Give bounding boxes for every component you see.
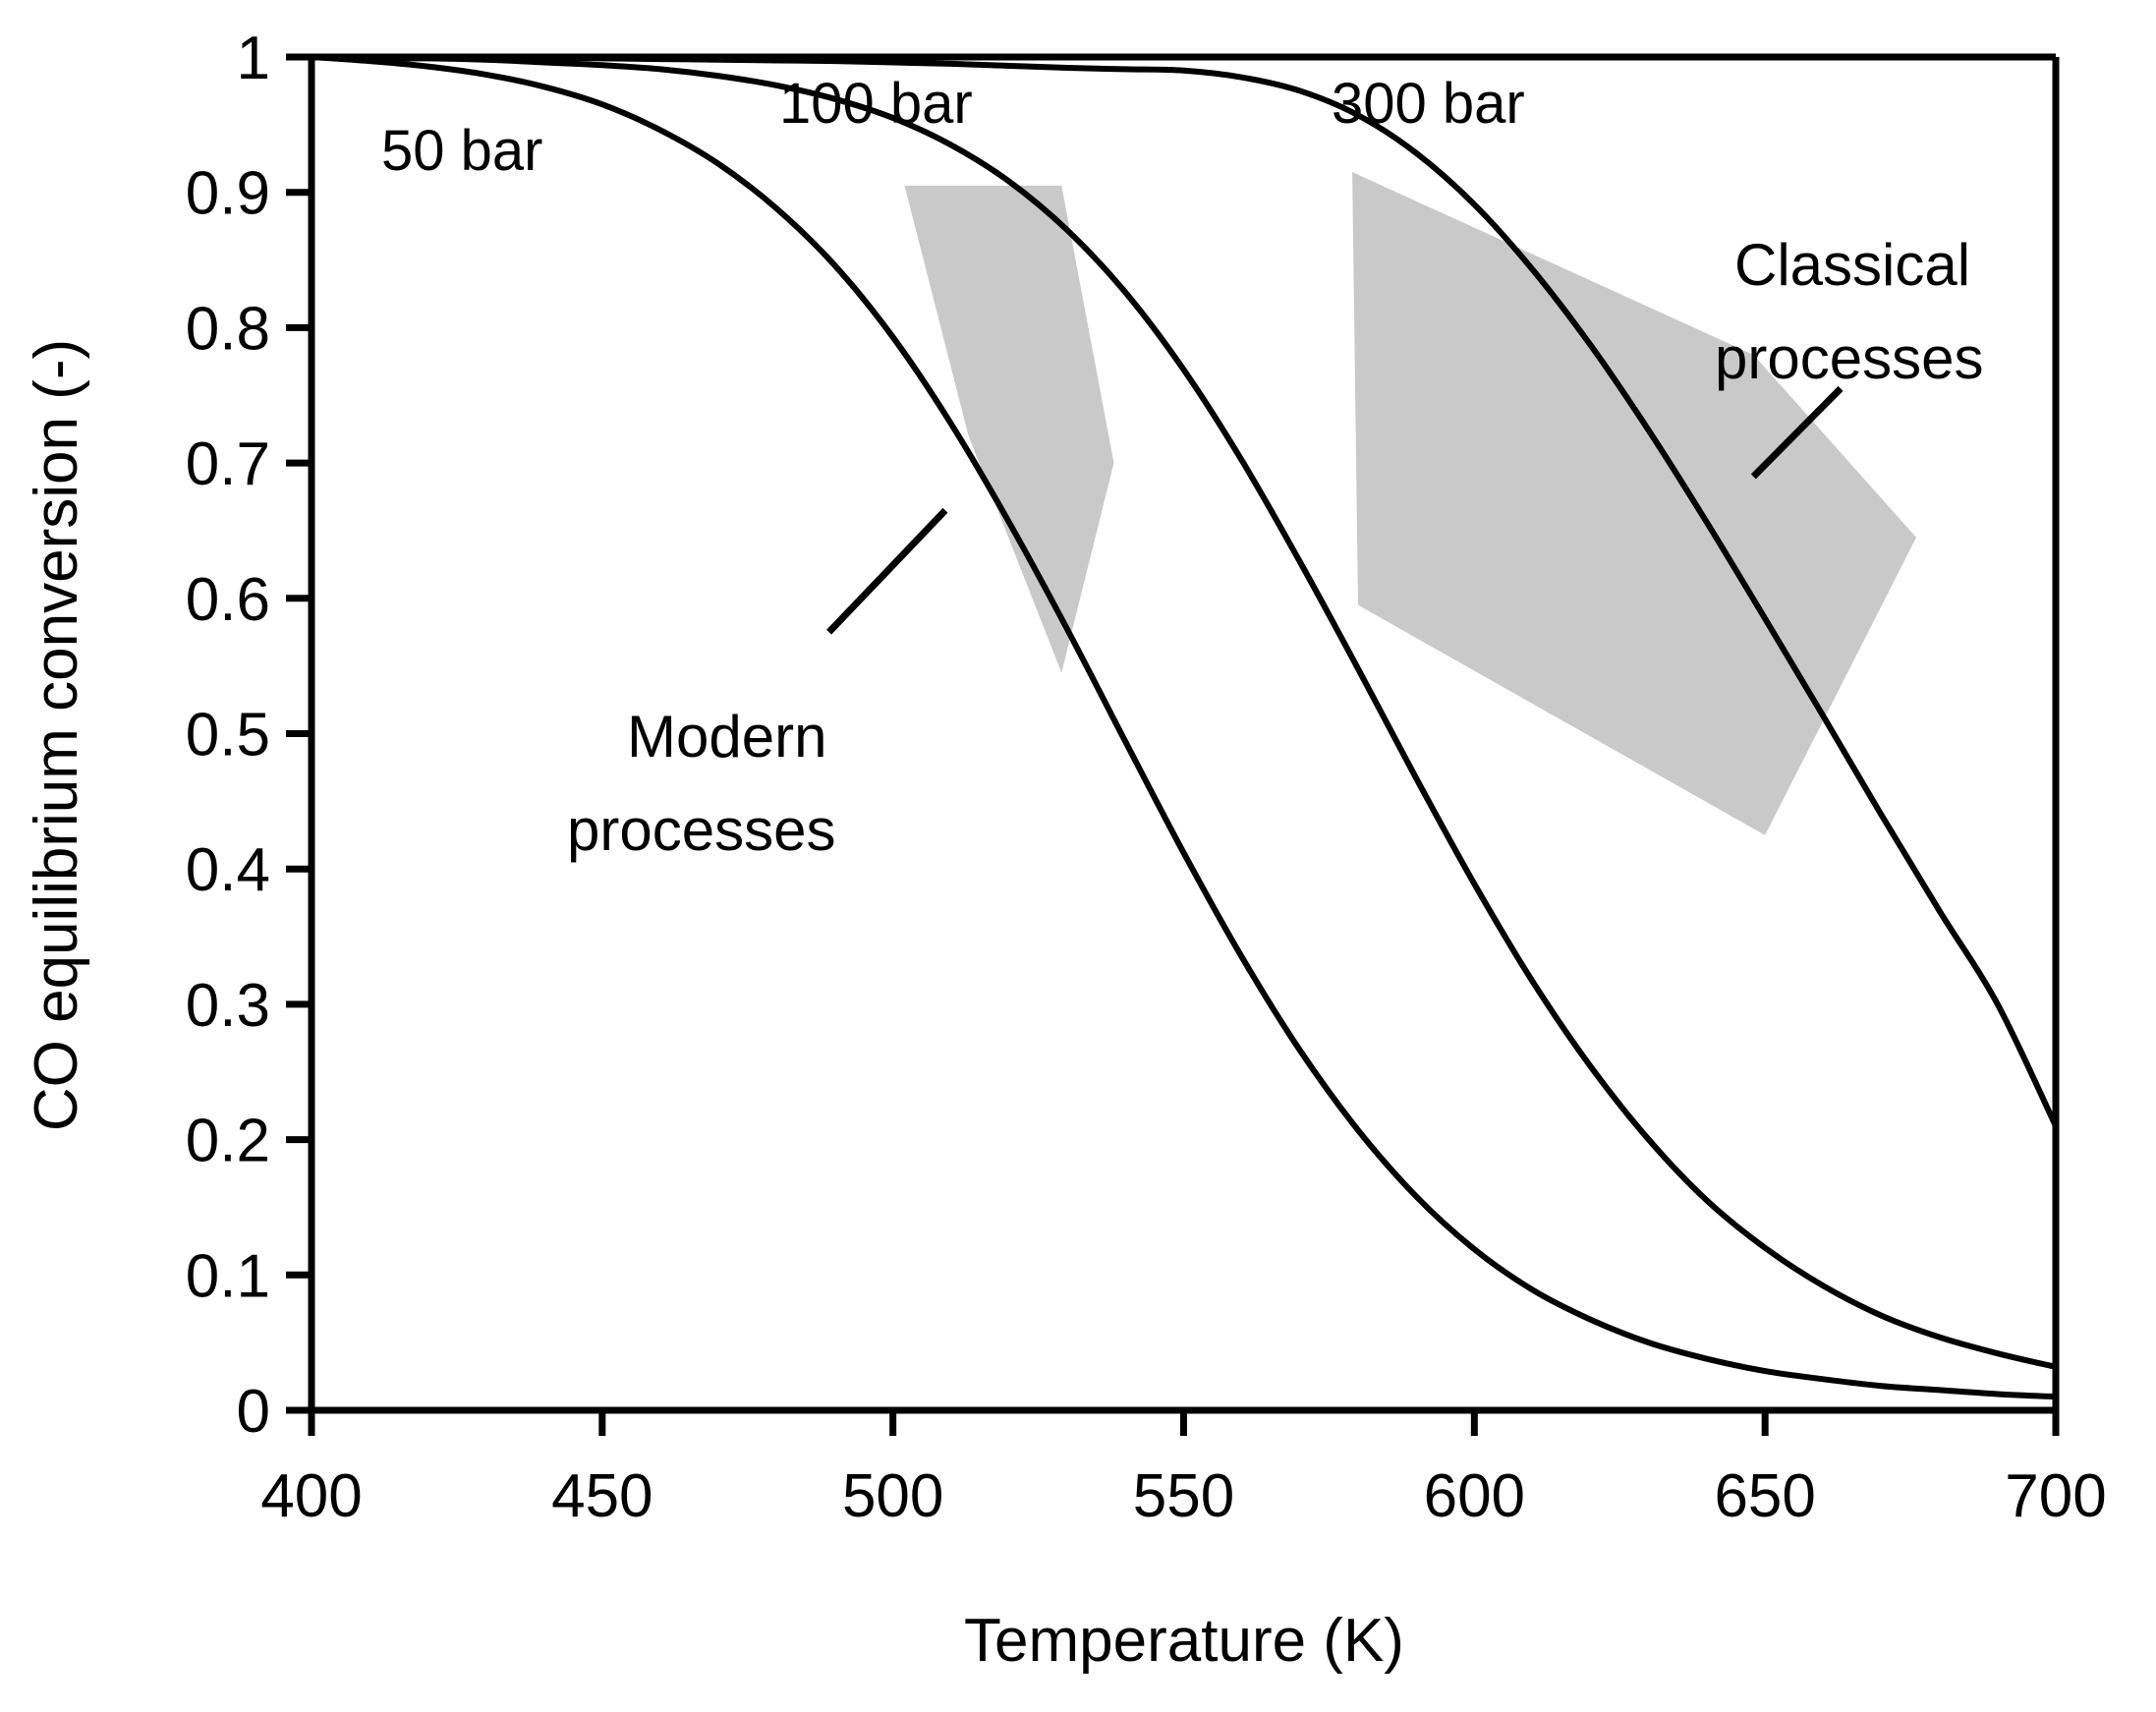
x-tick-label-450: 450 [551,1462,652,1530]
x-tick-label-700: 700 [2005,1462,2106,1530]
annotation-classical-processes-line2: processes [1715,325,1983,391]
y-tick-label-0.7: 0.7 [186,430,270,498]
y-axis-title: CO equilibrium conversion (-) [23,339,90,1131]
x-tick-label-650: 650 [1714,1462,1815,1530]
equilibrium-conversion-chart: 00.10.20.30.40.50.60.70.80.91 4004505005… [0,0,2156,1712]
x-tick-label-600: 600 [1424,1462,1525,1530]
series-label-100-bar: 100 bar [779,72,973,136]
y-tick-label-0.5: 0.5 [186,702,270,770]
y-tick-label-0.6: 0.6 [186,566,270,634]
x-tick-label-550: 550 [1133,1462,1234,1530]
y-tick-label-0.3: 0.3 [186,972,270,1040]
y-tick-label-0.2: 0.2 [186,1108,270,1175]
y-tick-label-0: 0 [237,1378,270,1446]
annotation-classical-processes-line1: Classical [1734,232,1970,298]
x-tick-label-400: 400 [260,1462,362,1530]
y-tick-label-0.9: 0.9 [186,160,270,228]
y-tick-label-0.1: 0.1 [186,1242,270,1310]
x-axis-title: Temperature (K) [964,1607,1404,1675]
annotation-modern-processes-line1: Modern [627,704,826,770]
y-tick-label-1: 1 [237,25,270,92]
series-label-300-bar: 300 bar [1332,72,1525,136]
annotation-modern-processes-line2: processes [567,797,835,863]
y-tick-label-0.8: 0.8 [186,295,270,363]
series-label-50-bar: 50 bar [381,119,542,183]
x-tick-label-500: 500 [842,1462,943,1530]
y-tick-label-0.4: 0.4 [186,836,270,904]
figure-container: 00.10.20.30.40.50.60.70.80.91 4004505005… [0,0,2156,1712]
